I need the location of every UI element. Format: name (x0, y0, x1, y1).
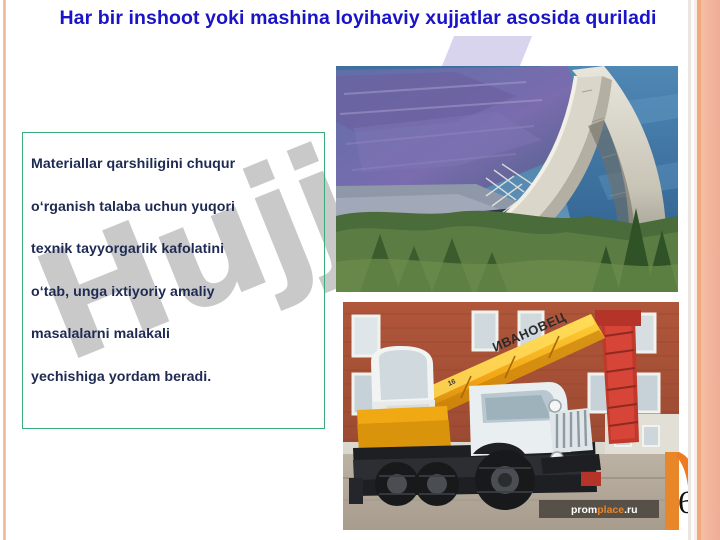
body-line: o‘tab, unga ixtiyoriy amaliy (31, 285, 316, 301)
body-line: masalalarni malakali (31, 327, 316, 343)
body-line: o‘rganish talaba uchun yuqori (31, 200, 316, 216)
body-line: yechishiga yordam beradi. (31, 370, 316, 386)
left-accent-rule (3, 0, 6, 540)
hydroelectric-dam-photo (336, 66, 678, 292)
band-fill (701, 0, 720, 540)
right-accent-band (688, 0, 720, 540)
presentation-slide: Hujjat Har bir inshoot yoki mashina loyi… (0, 0, 720, 540)
body-line: texnik tayyorgarlik kafolatini (31, 242, 316, 258)
svg-text:promplace.ru: promplace.ru (571, 504, 638, 516)
dam-illustration (336, 66, 678, 292)
lavender-accent-shape (442, 36, 532, 66)
slide-title: Har bir inshoot yoki mashina loyihaviy x… (28, 6, 688, 32)
mobile-crane-truck-photo: ИВАНОВЕЦ 16 (343, 302, 679, 530)
body-line: Materiallar qarshiligini chuqur (31, 157, 316, 173)
crane-illustration: ИВАНОВЕЦ 16 (343, 302, 679, 530)
body-text-box: Materiallar qarshiligini chuqur o‘rganis… (22, 132, 325, 429)
